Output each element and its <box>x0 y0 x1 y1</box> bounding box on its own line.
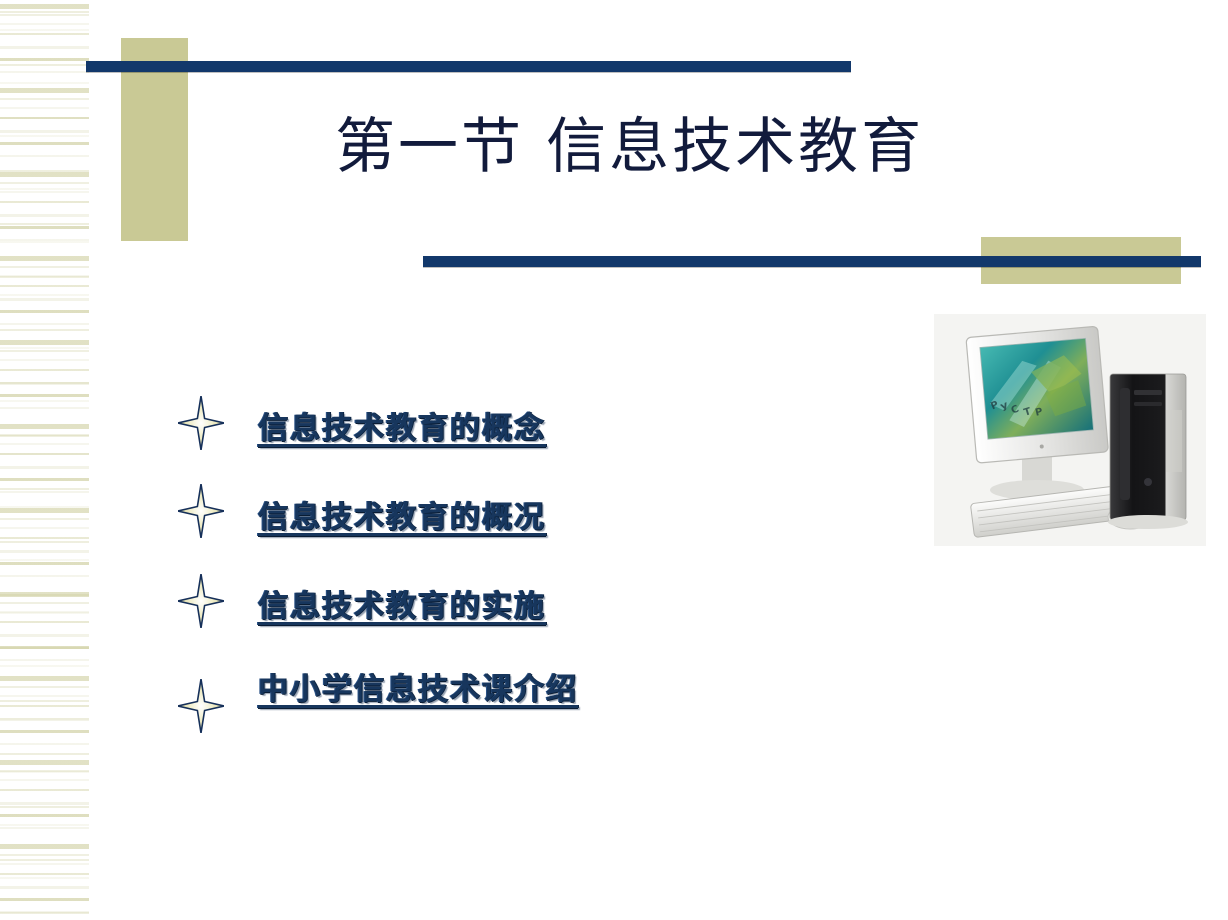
agenda-link[interactable]: 信息技术教育的概念 <box>258 403 546 447</box>
navy-accent-bar-top <box>86 61 851 72</box>
agenda-link[interactable]: 中小学信息技术课介绍 <box>258 664 578 708</box>
four-point-star-bullet-icon <box>178 484 224 538</box>
presentation-slide: 第一节 信息技术教育 信息技术教育的概念 信息技术教育的概况 <box>0 0 1228 920</box>
agenda-list: 信息技术教育的概念 信息技术教育的概况 信息技术教育的实施 中小学信息技术课介绍 <box>178 392 738 752</box>
four-point-star-bullet-icon <box>178 574 224 628</box>
slide-title: 第一节 信息技术教育 <box>335 116 924 179</box>
four-point-star-bullet-icon <box>178 679 224 733</box>
navy-accent-bar-middle <box>423 256 1201 267</box>
striped-sidebar <box>0 0 89 920</box>
agenda-link[interactable]: 信息技术教育的概况 <box>258 492 546 536</box>
agenda-link[interactable]: 信息技术教育的实施 <box>258 581 546 625</box>
four-point-star-bullet-icon <box>178 396 224 450</box>
desktop-computer-photo: Р У С Т Р <box>934 314 1206 546</box>
